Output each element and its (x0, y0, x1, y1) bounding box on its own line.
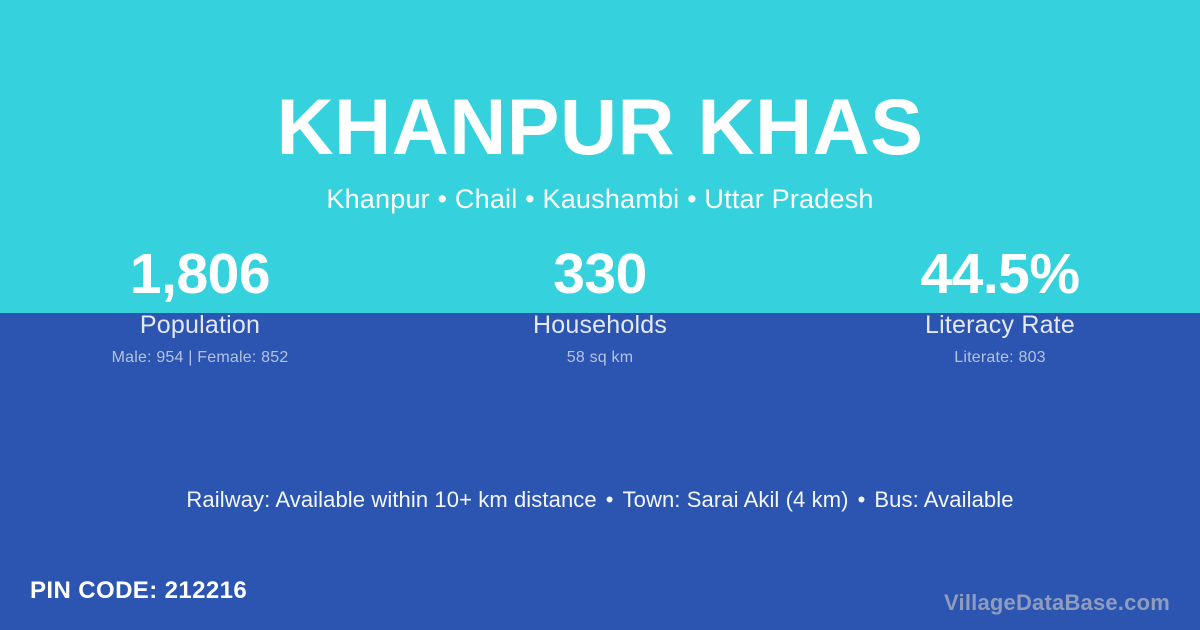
stat-sublabel: Male: 954 | Female: 852 (0, 348, 400, 368)
stat-population: 1,806 Population Male: 954 | Female: 852 (0, 243, 400, 368)
stats-row: 1,806 Population Male: 954 | Female: 852… (0, 243, 1200, 368)
page-title: KHANPUR KHAS (0, 80, 1200, 174)
stat-sublabel: Literate: 803 (800, 348, 1200, 368)
stat-value: 44.5% (800, 243, 1200, 305)
town-info: Town: Sarai Akil (4 km) (623, 487, 849, 512)
stat-households: 330 Households 58 sq km (400, 243, 800, 368)
stat-value: 1,806 (0, 243, 400, 305)
stat-label: Literacy Rate (800, 310, 1200, 340)
site-watermark: VillageDataBase.com (944, 588, 1170, 618)
stat-value: 330 (400, 243, 800, 305)
breadcrumb: Khanpur • Chail • Kaushambi • Uttar Prad… (0, 181, 1200, 217)
bullet-separator-icon: • (849, 485, 875, 515)
stat-literacy-rate: 44.5% Literacy Rate Literate: 803 (800, 243, 1200, 368)
village-info-card: KHANPUR KHAS Khanpur • Chail • Kaushambi… (0, 0, 1200, 630)
bullet-separator-icon: • (597, 485, 623, 515)
stat-label: Population (0, 310, 400, 340)
railway-info: Railway: Available within 10+ km distanc… (186, 487, 596, 512)
pin-code: PIN CODE: 212216 (30, 575, 247, 607)
transport-info-line: Railway: Available within 10+ km distanc… (0, 485, 1200, 515)
bus-info: Bus: Available (874, 487, 1013, 512)
stat-sublabel: 58 sq km (400, 348, 800, 368)
stat-label: Households (400, 310, 800, 340)
